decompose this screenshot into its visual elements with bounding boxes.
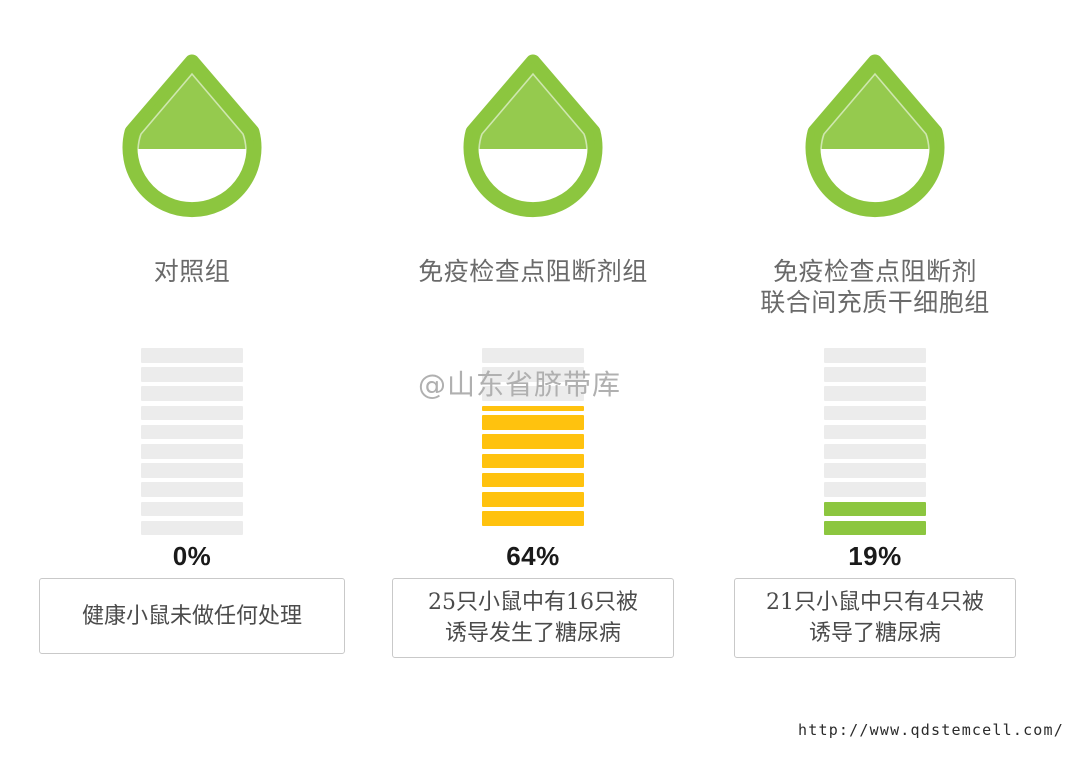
bar-stack-icb bbox=[482, 348, 584, 530]
bar-segment bbox=[482, 386, 584, 401]
bar-segment bbox=[824, 425, 926, 440]
bar-segment bbox=[141, 444, 243, 459]
group-column-control: 对照组 0% 健康小鼠未做任何处理 bbox=[22, 0, 362, 700]
bar-segment bbox=[141, 425, 243, 440]
bar-segment-filled bbox=[482, 415, 584, 430]
bar-segment bbox=[482, 367, 584, 382]
percent-label-icb: 64% bbox=[363, 541, 703, 572]
bar-stack-icb-msc bbox=[824, 348, 926, 540]
bar-segment bbox=[141, 348, 243, 363]
bar-segment-filled bbox=[824, 521, 926, 536]
group-column-icb: 免疫检查点阻断剂组 64% 25只小鼠中有16只被 诱导发生了糖尿病 bbox=[363, 0, 703, 700]
bar-segment bbox=[141, 367, 243, 382]
footer-url-text: http://www.qdstemcell.com/ bbox=[798, 721, 1064, 739]
caption-text: 21只小鼠中只有4只被 诱导了糖尿病 bbox=[766, 587, 984, 649]
bar-segment-filled bbox=[482, 473, 584, 488]
caption-box-icb: 25只小鼠中有16只被 诱导发生了糖尿病 bbox=[392, 578, 674, 658]
bar-segment-filled bbox=[482, 454, 584, 469]
group-label-icb-msc: 免疫检查点阻断剂 联合间充质干细胞组 bbox=[705, 256, 1045, 318]
droplet-svg bbox=[785, 52, 965, 232]
bar-segment bbox=[824, 386, 926, 401]
bar-segment-filled bbox=[482, 434, 584, 449]
percent-label-icb-msc: 19% bbox=[705, 541, 1045, 572]
group-column-icb-msc: 免疫检查点阻断剂 联合间充质干细胞组 19% 21只小鼠中只有4只被 诱导了糖尿… bbox=[705, 0, 1045, 700]
bar-segment bbox=[141, 386, 243, 401]
bar-segment bbox=[824, 482, 926, 497]
caption-box-icb-msc: 21只小鼠中只有4只被 诱导了糖尿病 bbox=[734, 578, 1016, 658]
droplet-svg bbox=[102, 52, 282, 232]
caption-text: 健康小鼠未做任何处理 bbox=[82, 601, 302, 632]
bar-segment bbox=[141, 521, 243, 536]
bar-segment-filled-partial bbox=[482, 406, 584, 411]
droplet-icon-control bbox=[102, 52, 282, 232]
bar-segment bbox=[141, 406, 243, 421]
infographic-board: 对照组 0% 健康小鼠未做任何处理 bbox=[0, 0, 1080, 764]
bar-segment bbox=[141, 463, 243, 478]
bar-segment bbox=[824, 406, 926, 421]
droplet-icon-icb-msc bbox=[785, 52, 965, 232]
bar-segment bbox=[141, 482, 243, 497]
bar-segment-filled bbox=[482, 492, 584, 507]
bar-segment bbox=[141, 502, 243, 517]
caption-box-control: 健康小鼠未做任何处理 bbox=[39, 578, 345, 654]
bar-segment bbox=[482, 348, 584, 363]
bar-segment bbox=[824, 367, 926, 382]
bar-segment bbox=[824, 463, 926, 478]
group-label-icb: 免疫检查点阻断剂组 bbox=[363, 256, 703, 287]
bar-stack-control bbox=[141, 348, 243, 540]
droplet-icon-icb bbox=[443, 52, 623, 232]
percent-label-control: 0% bbox=[22, 541, 362, 572]
bar-segment bbox=[824, 348, 926, 363]
bar-segment-filled bbox=[482, 511, 584, 526]
group-label-control: 对照组 bbox=[22, 256, 362, 287]
droplet-svg bbox=[443, 52, 623, 232]
caption-text: 25只小鼠中有16只被 诱导发生了糖尿病 bbox=[428, 587, 638, 649]
bar-segment bbox=[824, 444, 926, 459]
bar-segment-filled bbox=[824, 502, 926, 517]
